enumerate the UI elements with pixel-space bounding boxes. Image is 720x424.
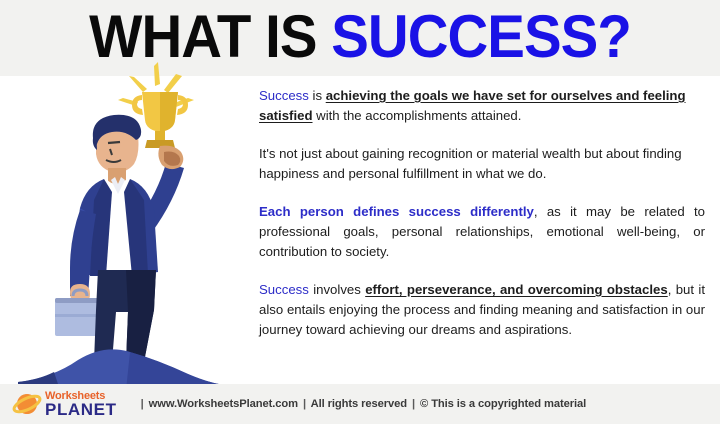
businessman-trophy-illustration: [8, 60, 252, 390]
p1-run-3: with the accomplishments attained.: [313, 108, 522, 123]
p1-run-0: Success: [259, 88, 309, 103]
head: [93, 115, 141, 173]
logo-line-planet: PLANET: [45, 401, 117, 418]
paragraph-3: Each person defines success differently,…: [259, 202, 705, 262]
paragraph-1: Success is achieving the goals we have s…: [259, 86, 705, 126]
article-body: Success is achieving the goals we have s…: [259, 86, 705, 340]
p2-run-0: It's not just about gaining recognition …: [259, 146, 682, 181]
paragraph-4: Success involves effort, perseverance, a…: [259, 280, 705, 340]
p4-run-2: effort, perseverance, and overcoming obs…: [365, 282, 668, 297]
footer-website[interactable]: www.WorksheetsPlanet.com: [149, 398, 298, 410]
footer-separator-3: |: [410, 398, 417, 410]
trophy-icon: [132, 92, 188, 148]
trousers: [94, 270, 156, 362]
footer-separator-2: |: [301, 398, 308, 410]
logo-wordmark: Worksheets PLANET: [45, 391, 117, 418]
paragraph-2: It's not just about gaining recognition …: [259, 144, 705, 184]
p4-run-0: Success: [259, 282, 309, 297]
footer-credit-text: | www.WorksheetsPlanet.com | All rights …: [139, 398, 587, 410]
p1-run-1: is: [309, 88, 326, 103]
copyright-icon: ©: [420, 398, 428, 410]
footer-separator-1: |: [139, 398, 146, 410]
page-title-blue-part: SUCCESS?: [331, 3, 631, 70]
worksheet-page: WHAT IS SUCCESS?: [0, 0, 720, 424]
footer-rights: All rights reserved: [311, 398, 407, 410]
p4-run-1: involves: [309, 282, 365, 297]
planet-icon: [12, 389, 42, 419]
footer-bar: Worksheets PLANET | www.WorksheetsPlanet…: [0, 384, 720, 424]
footer-copyright-note: This is a copyrighted material: [431, 398, 586, 410]
p3-run-0: Each person defines success differently: [259, 204, 534, 219]
worksheets-planet-logo[interactable]: Worksheets PLANET: [12, 389, 117, 419]
